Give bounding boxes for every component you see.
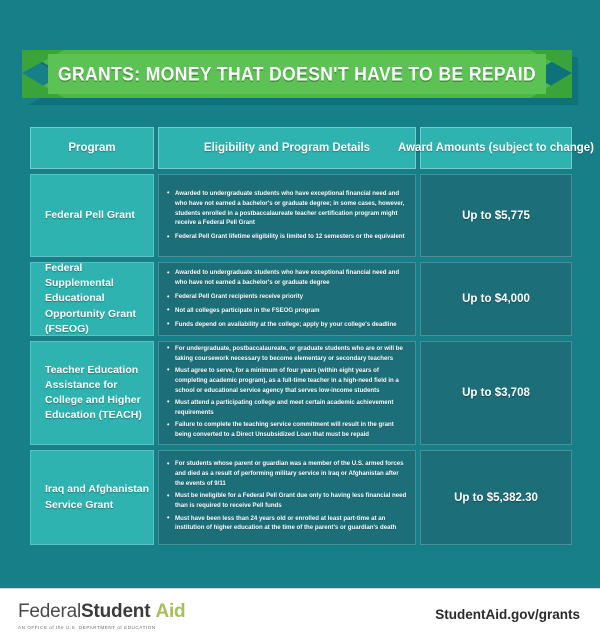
eligibility-cell: Awarded to undergraduate students who ha… (158, 174, 416, 257)
list-item: Must have been less than 24 years old or… (163, 514, 407, 534)
eligibility-bullets: For students whose parent or guardian wa… (163, 459, 407, 536)
list-item: Must agree to serve, for a minimum of fo… (163, 366, 407, 396)
table-row: Federal Supplemental Educational Opportu… (30, 262, 572, 336)
eligibility-cell: For undergraduate, postbaccalaureate, or… (158, 341, 416, 445)
program-name: Federal Pell Grant (45, 208, 135, 223)
program-cell: Teacher Education Assistance for College… (30, 341, 154, 445)
page-title: GRANTS: MONEY THAT DOESN'T HAVE TO BE RE… (58, 62, 536, 86)
award-amount: Up to $5,775 (462, 210, 530, 222)
list-item: Failure to complete the teaching service… (163, 420, 407, 440)
banner-inner-panel: GRANTS: MONEY THAT DOESN'T HAVE TO BE RE… (48, 54, 546, 94)
award-cell: Up to $5,775 (420, 174, 572, 257)
footer: FederalStudent Aid AN OFFICE of the U.S.… (0, 588, 600, 644)
header-cell-award: Award Amounts (subject to change) (420, 127, 572, 169)
list-item: Federal Pell Grant lifetime eligibility … (163, 232, 407, 242)
list-item: Must be ineligible for a Federal Pell Gr… (163, 491, 407, 511)
site-url: StudentAid.gov/grants (435, 607, 580, 622)
title-banner: GRANTS: MONEY THAT DOESN'T HAVE TO BE RE… (22, 50, 578, 102)
infographic-page: GRANTS: MONEY THAT DOESN'T HAVE TO BE RE… (0, 0, 600, 644)
header-label-award-note: (subject to change) (489, 142, 594, 154)
award-cell: Up to $4,000 (420, 262, 572, 336)
award-amount: Up to $3,708 (462, 387, 530, 399)
header-label-award: Award Amounts (398, 142, 486, 154)
eligibility-bullets: For undergraduate, postbaccalaureate, or… (163, 344, 407, 443)
header-cell-eligibility: Eligibility and Program Details (158, 127, 416, 169)
logo-word-student: Student (81, 601, 150, 622)
table-header-row: Program Eligibility and Program Details … (30, 127, 572, 169)
list-item: For undergraduate, postbaccalaureate, or… (163, 344, 407, 364)
header-label-program: Program (68, 142, 115, 154)
header-cell-program: Program (30, 127, 154, 169)
program-name: Teacher Education Assistance for College… (45, 363, 153, 424)
logo-tagline: AN OFFICE of the U.S. DEPARTMENT of EDUC… (18, 625, 185, 630)
eligibility-bullets: Awarded to undergraduate students who ha… (163, 189, 407, 242)
logo-word-federal: Federal (18, 601, 81, 622)
logo-word-aid: Aid (155, 601, 185, 622)
list-item: Not all colleges participate in the FSEO… (163, 306, 407, 316)
list-item: Awarded to undergraduate students who ha… (163, 189, 407, 228)
list-item: Funds depend on availability at the coll… (163, 320, 407, 330)
table-row: Federal Pell Grant Awarded to undergradu… (30, 174, 572, 257)
program-cell: Federal Pell Grant (30, 174, 154, 257)
table-row: Teacher Education Assistance for College… (30, 341, 572, 445)
program-cell: Federal Supplemental Educational Opportu… (30, 262, 154, 336)
award-amount: Up to $5,382.30 (454, 492, 538, 504)
infographic-body: GRANTS: MONEY THAT DOESN'T HAVE TO BE RE… (0, 0, 600, 588)
logo-wordmark: FederalStudent Aid (18, 601, 185, 623)
award-amount: Up to $4,000 (462, 293, 530, 305)
list-item: Awarded to undergraduate students who ha… (163, 268, 407, 288)
list-item: For students whose parent or guardian wa… (163, 459, 407, 489)
program-name: Iraq and Afghanistan Service Grant (45, 482, 153, 512)
grants-table: Program Eligibility and Program Details … (30, 127, 572, 550)
program-cell: Iraq and Afghanistan Service Grant (30, 450, 154, 545)
award-cell: Up to $5,382.30 (420, 450, 572, 545)
eligibility-cell: For students whose parent or guardian wa… (158, 450, 416, 545)
list-item: Must attend a participating college and … (163, 398, 407, 418)
table-row: Iraq and Afghanistan Service Grant For s… (30, 450, 572, 545)
federal-student-aid-logo: FederalStudent Aid AN OFFICE of the U.S.… (18, 601, 185, 630)
award-cell: Up to $3,708 (420, 341, 572, 445)
eligibility-bullets: Awarded to undergraduate students who ha… (163, 268, 407, 329)
eligibility-cell: Awarded to undergraduate students who ha… (158, 262, 416, 336)
program-name: Federal Supplemental Educational Opportu… (45, 261, 153, 337)
header-label-eligibility: Eligibility and Program Details (204, 142, 370, 154)
list-item: Federal Pell Grant recipients receive pr… (163, 292, 407, 302)
